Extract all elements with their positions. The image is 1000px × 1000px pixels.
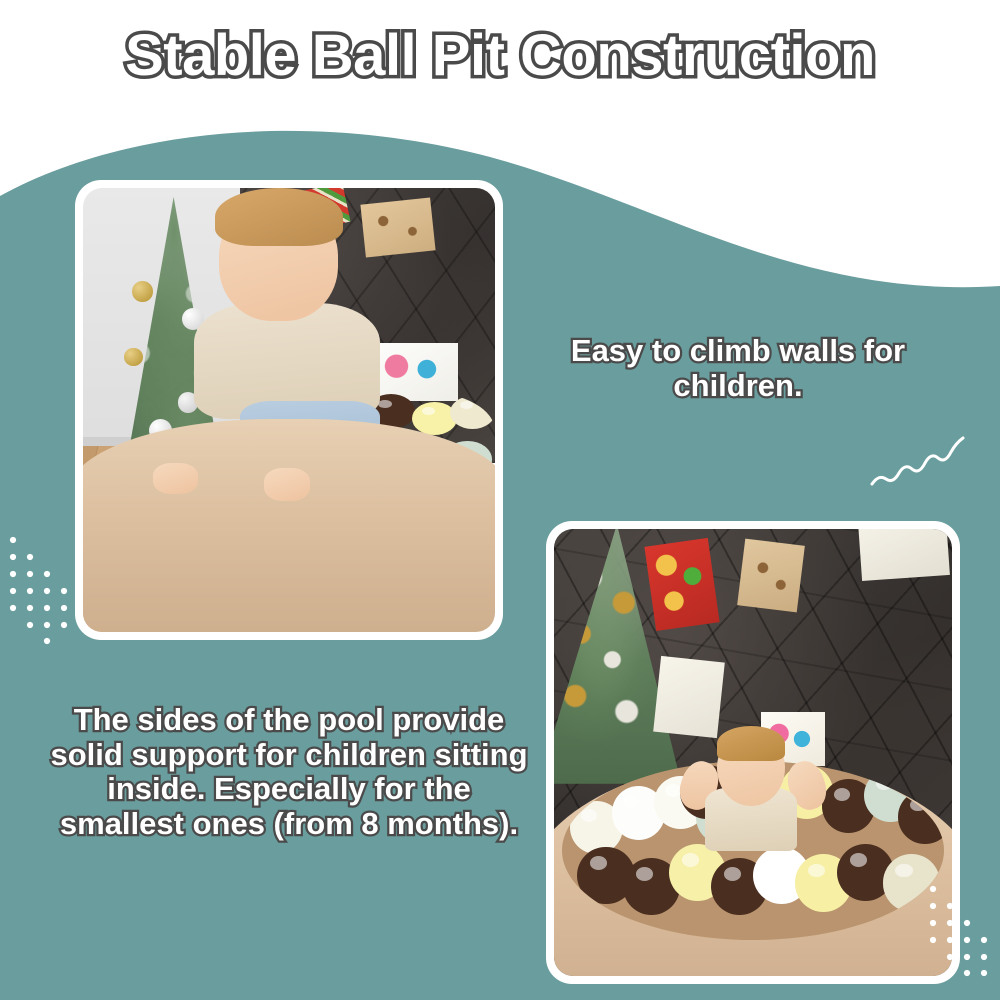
ball (898, 790, 944, 844)
gift-kraft (737, 539, 804, 613)
photo-frame-top-left (75, 180, 503, 640)
photo-1-scene (83, 188, 495, 632)
gift-kraft (361, 198, 436, 258)
photo-1 (83, 188, 495, 632)
gift-red-santa (644, 538, 719, 631)
page-title: Stable Ball Pit Construction (125, 26, 875, 87)
photo-frame-bottom-right (546, 521, 960, 984)
gift-white-top (859, 529, 950, 581)
baby-hand-right (264, 468, 309, 501)
dots-left-decoration (6, 533, 78, 650)
ornament-gold-1 (132, 281, 153, 301)
gift-white-middle (654, 656, 725, 738)
baby-hand-left (153, 463, 198, 494)
feature-text-climb: Easy to climb walls for children. (508, 334, 968, 403)
page-title-container: Stable Ball Pit Construction (0, 26, 1000, 87)
photo-2-scene (554, 529, 952, 976)
ball (450, 396, 495, 429)
ball-pit-wall (83, 419, 495, 632)
feature-text-support: The sides of the pool provide solid supp… (42, 703, 536, 842)
baby-hair (717, 726, 785, 762)
squiggle-decoration (868, 432, 968, 495)
dots-right-decoration (924, 881, 994, 982)
photo-2 (554, 529, 952, 976)
baby-hair (215, 188, 343, 246)
infographic-canvas: Stable Ball Pit Construction (0, 0, 1000, 1000)
